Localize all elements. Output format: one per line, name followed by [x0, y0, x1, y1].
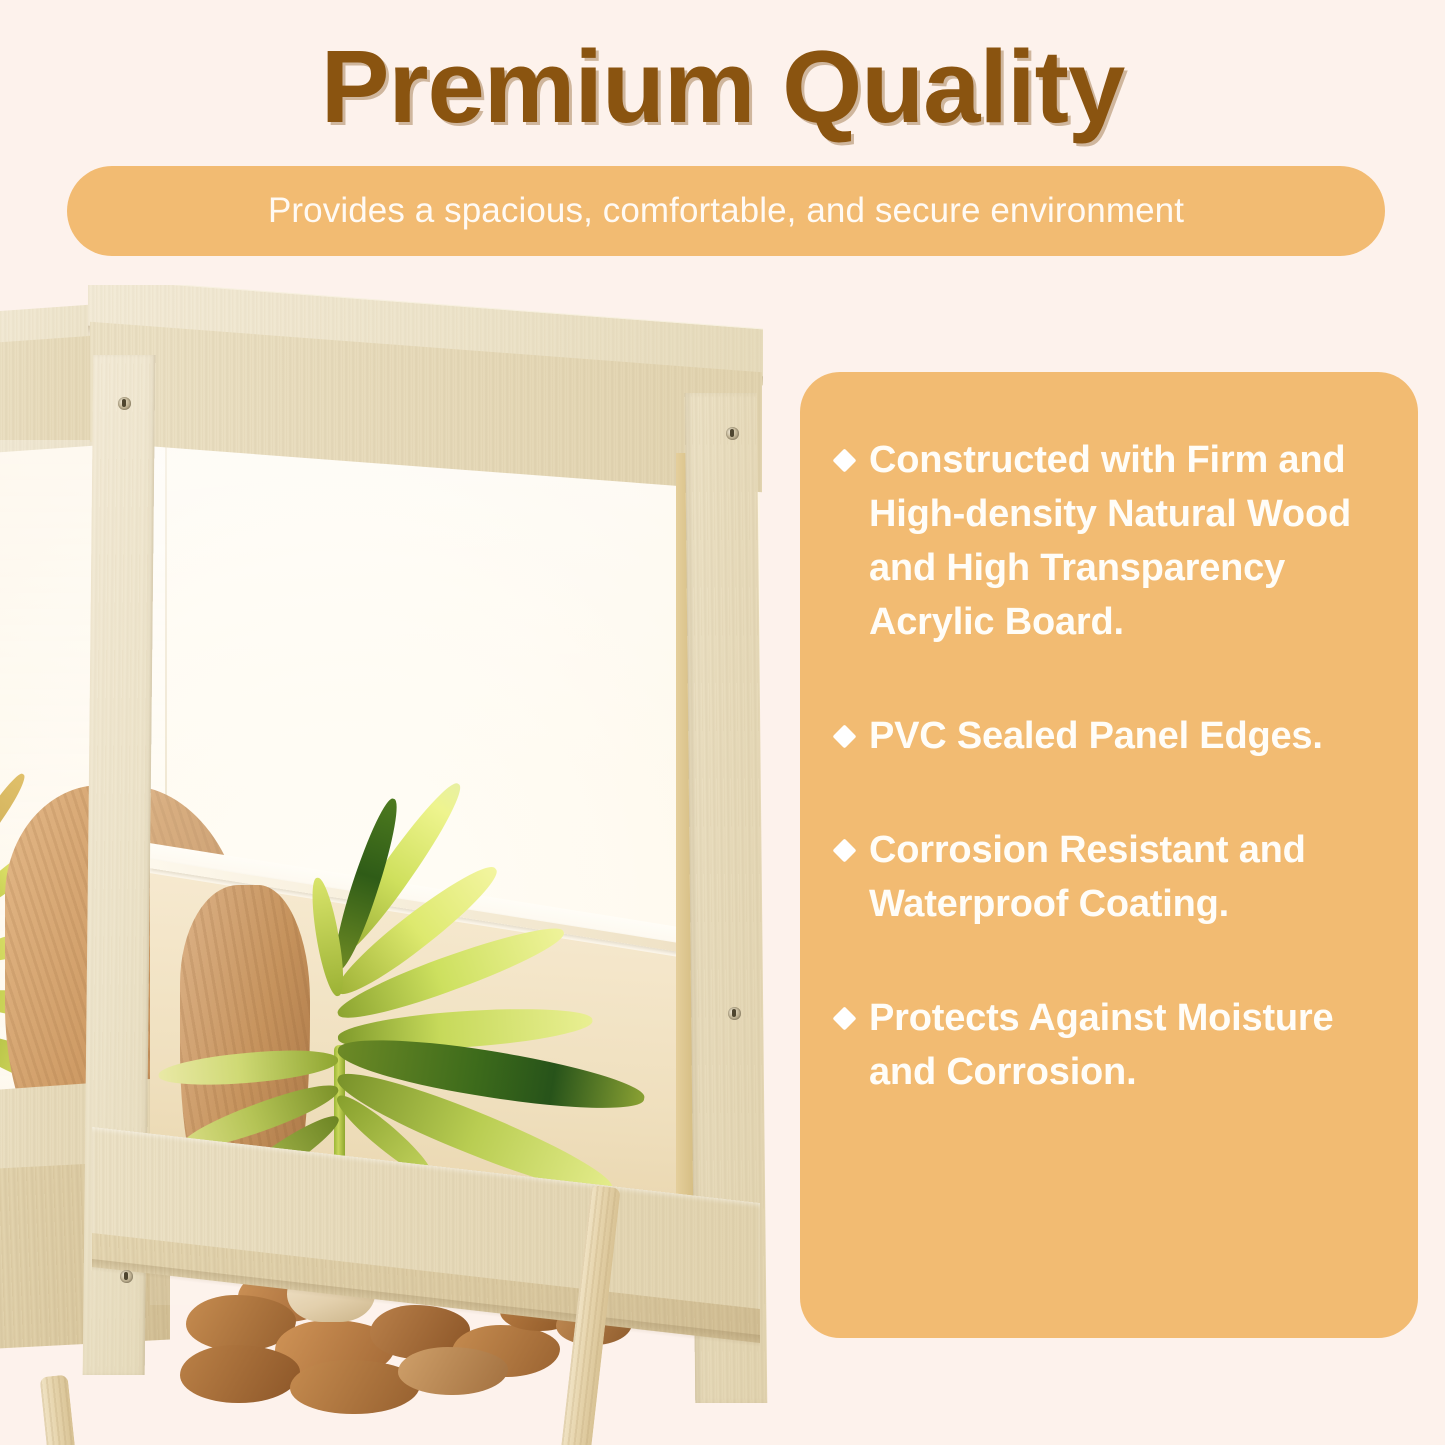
feature-text: Constructed with Firm and High-density N… [869, 434, 1380, 650]
product-photo [0, 285, 790, 1445]
screw-icon [728, 1007, 741, 1020]
screw-icon [120, 1270, 133, 1283]
screw-icon [726, 427, 739, 440]
screw-icon [118, 397, 131, 410]
feature-list-item: Corrosion Resistant and Waterproof Coati… [836, 824, 1380, 932]
diamond-bullet-icon [832, 838, 856, 862]
feature-list-item: Constructed with Firm and High-density N… [836, 434, 1380, 650]
subtitle-text: Provides a spacious, comfortable, and se… [268, 191, 1184, 231]
diamond-bullet-icon [832, 448, 856, 472]
terrarium-illustration [0, 285, 790, 1445]
page-title: Premium Quality [0, 30, 1445, 143]
feature-list: Constructed with Firm and High-density N… [836, 434, 1380, 1100]
enclosure-leg [40, 1375, 105, 1445]
feature-list-item: Protects Against Moisture and Corrosion. [836, 992, 1380, 1100]
diamond-bullet-icon [832, 1006, 856, 1030]
feature-list-item: PVC Sealed Panel Edges. [836, 710, 1380, 764]
feature-text: Corrosion Resistant and Waterproof Coati… [869, 824, 1380, 932]
substrate-rock [180, 1345, 300, 1403]
subtitle-banner: Provides a spacious, comfortable, and se… [67, 166, 1385, 256]
feature-text: PVC Sealed Panel Edges. [869, 710, 1323, 764]
features-panel: Constructed with Firm and High-density N… [800, 372, 1418, 1338]
feature-text: Protects Against Moisture and Corrosion. [869, 992, 1380, 1100]
diamond-bullet-icon [832, 724, 856, 748]
substrate-rock [398, 1347, 508, 1395]
